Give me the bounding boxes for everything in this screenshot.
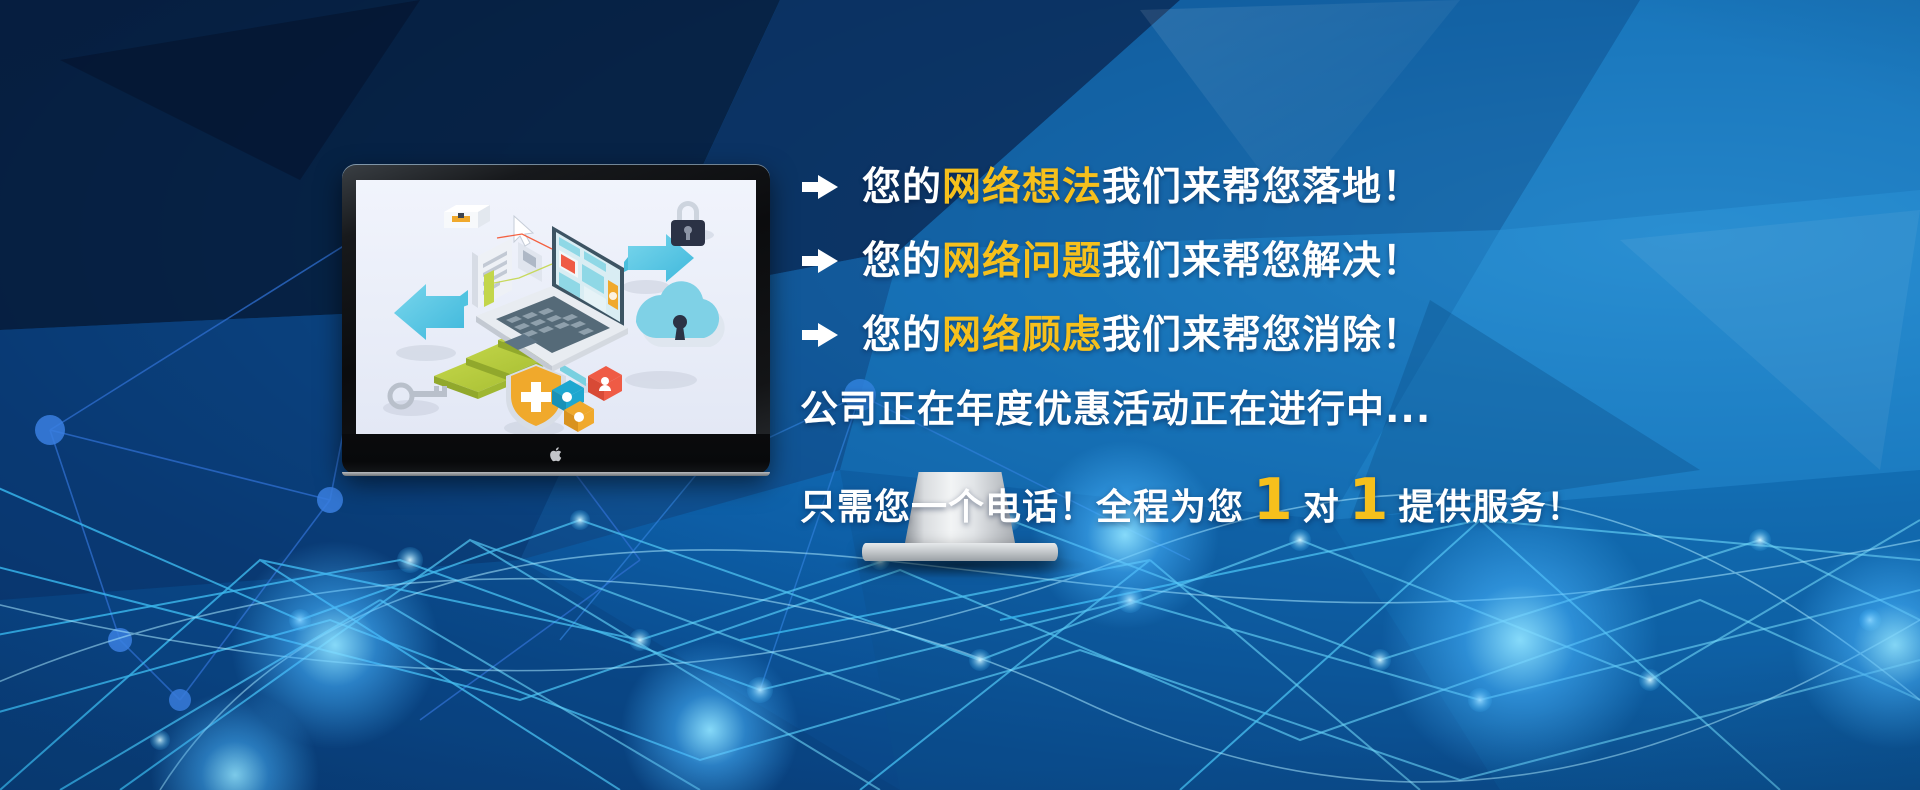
bullet-row-2: 您的网络问题我们来帮您解决！ — [800, 224, 1840, 298]
promo-middle: 对 — [1303, 490, 1340, 526]
monitor-screen — [356, 180, 756, 434]
promo-line: 只需您一个电话！全程为您 1 对 1 提供服务！ — [800, 472, 1840, 529]
monitor-chin — [342, 434, 770, 474]
promo-number-second: 1 — [1340, 472, 1399, 529]
bullet-text-2: 您的网络问题我们来帮您解决！ — [862, 242, 1422, 281]
bullet-3-post: 我们来帮您消除！ — [1102, 313, 1422, 358]
arrow-right-icon — [800, 248, 840, 274]
monitor-display — [342, 164, 770, 474]
bullet-2-post: 我们来帮您解决！ — [1102, 239, 1422, 284]
bullet-text-1: 您的网络想法我们来帮您落地！ — [862, 168, 1422, 207]
promo-number-first: 1 — [1244, 472, 1303, 529]
ticket-icon — [444, 205, 490, 228]
bullet-row-1: 您的网络想法我们来帮您落地！ — [800, 150, 1840, 224]
bullet-2-highlight: 网络问题 — [942, 239, 1102, 284]
bullet-3-highlight: 网络顾虑 — [942, 313, 1102, 358]
bullet-1-highlight: 网络想法 — [942, 165, 1102, 210]
bullet-2-pre: 您的 — [862, 239, 942, 284]
hero-banner: 您的网络想法我们来帮您落地！ 您的网络问题我们来帮您解决！ 您的网络顾虑我们来帮… — [0, 0, 1920, 790]
bullet-1-post: 我们来帮您落地！ — [1102, 165, 1422, 210]
headline-copy-block: 您的网络想法我们来帮您落地！ 您的网络问题我们来帮您解决！ 您的网络顾虑我们来帮… — [800, 150, 1840, 529]
apple-logo-icon — [549, 446, 564, 463]
isometric-network-security-illustration — [356, 180, 756, 434]
monitor-stand-base — [862, 543, 1058, 561]
promo-tail: 提供服务！ — [1398, 490, 1583, 526]
bullet-1-pre: 您的 — [862, 165, 942, 210]
promo-lead: 只需您一个电话！全程为您 — [800, 490, 1244, 526]
arrow-right-icon — [800, 174, 840, 200]
monitor-bottom-edge — [342, 472, 770, 476]
bullet-3-pre: 您的 — [862, 313, 942, 358]
arrow-right-icon — [800, 322, 840, 348]
subheadline: 公司正在年度优惠活动正在进行中... — [800, 390, 1840, 428]
bullet-row-3: 您的网络顾虑我们来帮您消除！ — [800, 298, 1840, 372]
bullet-text-3: 您的网络顾虑我们来帮您消除！ — [862, 316, 1422, 355]
